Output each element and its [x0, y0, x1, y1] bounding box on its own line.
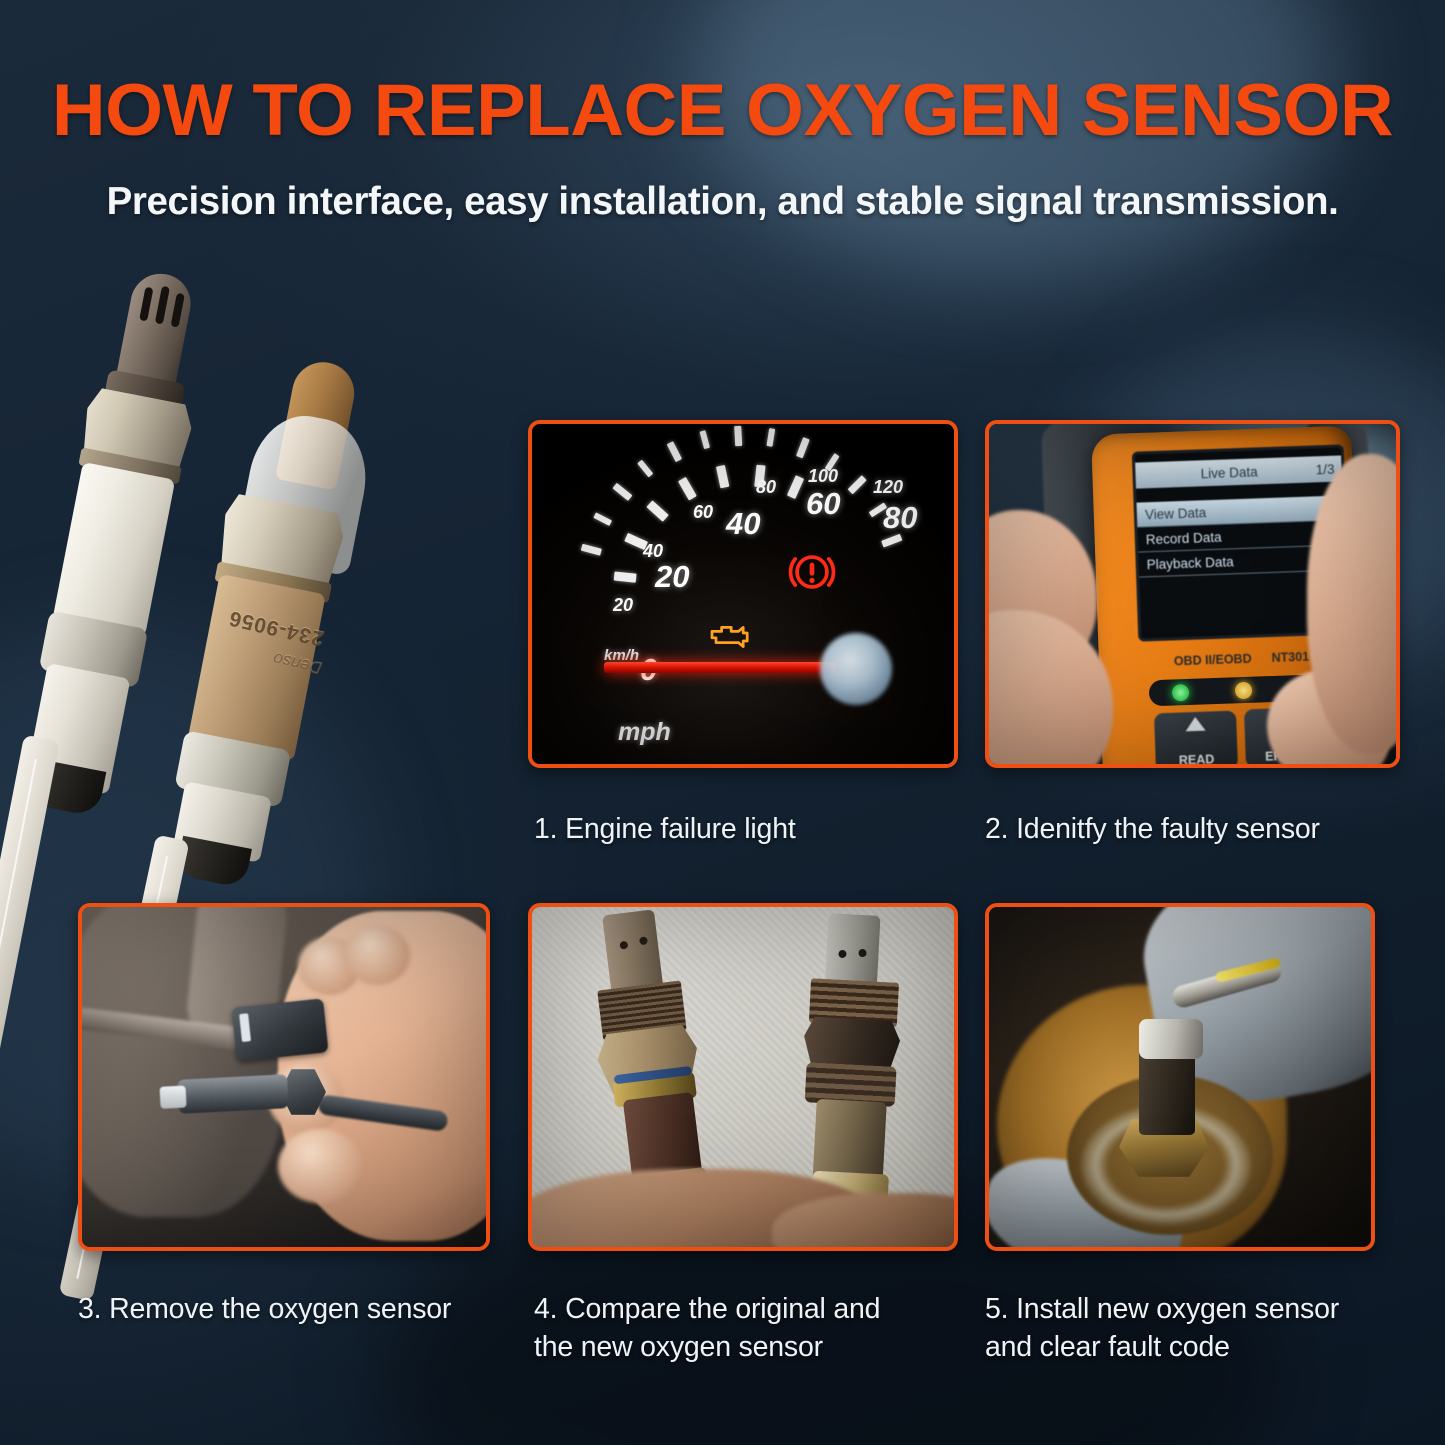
display-titlebar: Live Data 1/3	[1135, 455, 1342, 488]
read-button-label: READ	[1179, 752, 1215, 764]
brake-warning-icon	[784, 544, 840, 600]
sensor-b: 234-9056 Denso	[156, 348, 418, 871]
caption-panel-4: 4. Compare the original and the new oxyg…	[534, 1290, 924, 1367]
installed-sensor-shaft	[1139, 1049, 1195, 1135]
sensor-a-nut-band	[78, 447, 182, 484]
installed-sensor-collar	[1139, 1019, 1203, 1059]
protocol-label: OBD II/EOBD	[1174, 652, 1252, 669]
speedo-kmh-20: 20	[613, 595, 633, 616]
speedo-kmh-80: 80	[756, 477, 776, 498]
sensor-a-boot	[27, 758, 106, 817]
check-engine-icon	[708, 620, 756, 654]
knuckle	[344, 925, 410, 985]
sensor-a-shoulder	[39, 610, 149, 688]
model-label: NT301	[1271, 650, 1309, 665]
caption-panel-2: 2. Idenitfy the faulty sensor	[985, 810, 1415, 848]
sensor-a-louver-slot-2	[155, 286, 170, 325]
speedo-mph-40: 40	[726, 506, 760, 542]
sensor-b-protective-sleeve	[234, 407, 376, 576]
speedo-kmh-60: 60	[693, 502, 713, 523]
sensor-b-lower-body	[173, 781, 272, 863]
panel-engine-failure-light[interactable]: 20 40 60 80 100 120 0 20 40 60 80 km/h m…	[528, 420, 958, 768]
sensor-a	[12, 264, 258, 803]
sensor-b-nut-band	[214, 561, 332, 603]
sensor-b-ceramic-cone-tip	[275, 357, 360, 491]
warning-led-icon	[1235, 681, 1253, 699]
menu-item-label: View Data	[1145, 505, 1207, 522]
knuckle	[278, 1129, 362, 1203]
display-title: Live Data	[1142, 462, 1316, 483]
old-sensor-vent-tip	[825, 913, 881, 990]
sensor-a-body	[53, 462, 176, 637]
sensor-a-louver-slot-1	[139, 287, 153, 322]
photo-remove-sensor	[82, 907, 486, 1247]
sensor-a-lead-cable	[0, 735, 60, 1292]
caption-panel-1: 1. Engine failure light	[534, 810, 934, 848]
sensor-b-shoulder	[174, 730, 291, 808]
chevron-up-icon	[1185, 717, 1205, 732]
panel-remove-oxygen-sensor[interactable]	[78, 903, 490, 1251]
speedometer-needle	[604, 662, 836, 673]
sensor-a-lower-body	[26, 663, 131, 795]
sensor-b-brand-stamp: Denso	[232, 639, 324, 679]
menu-item-label: Playback Data	[1146, 554, 1234, 572]
caption-panel-3: 3. Remove the oxygen sensor	[78, 1290, 498, 1328]
panel-identify-faulty-sensor[interactable]: Live Data 1/3 View Data Record Data Play…	[985, 420, 1400, 768]
speedo-mph-20: 20	[655, 559, 689, 595]
sensor-b-hex-nut	[213, 492, 347, 599]
sensor-connector-plug	[231, 998, 328, 1061]
page-subtitle: Precision interface, easy installation, …	[0, 180, 1445, 224]
speedo-kmh-100: 100	[808, 466, 838, 487]
photo-instrument-cluster: 20 40 60 80 100 120 0 20 40 60 80 km/h m…	[532, 424, 954, 764]
speedometer-face: 20 40 60 80 100 120 0 20 40 60 80 km/h m…	[532, 424, 954, 764]
page-title: HOW TO REPLACE OXYGEN SENSOR	[0, 74, 1445, 147]
menu-item-label: Record Data	[1146, 529, 1222, 547]
panel-compare-sensors[interactable]	[528, 903, 958, 1251]
caption-panel-5: 5. Install new oxygen sensor and clear f…	[985, 1290, 1365, 1367]
pass-led-icon	[1172, 683, 1190, 701]
photo-compare-sensors	[532, 907, 954, 1247]
sensor-a-hex-nut	[76, 386, 195, 485]
speedo-kmh-120: 120	[873, 477, 903, 498]
poster-canvas: HOW TO REPLACE OXYGEN SENSOR Precision i…	[0, 0, 1445, 1445]
speedometer-hub-glare	[820, 633, 892, 705]
photo-obd-scanner: Live Data 1/3 View Data Record Data Play…	[989, 424, 1396, 764]
speedo-unit-mph: mph	[618, 718, 671, 747]
sensor-b-boot	[176, 836, 252, 889]
speedo-mph-80: 80	[883, 500, 917, 536]
sensor-b-part-number-stamp: 234-9056	[223, 604, 326, 650]
poster-header: HOW TO REPLACE OXYGEN SENSOR Precision i…	[0, 0, 1445, 224]
panel-install-new-sensor[interactable]	[985, 903, 1375, 1251]
removed-oxygen-sensor	[177, 1074, 289, 1114]
read-button[interactable]: READ	[1154, 711, 1238, 764]
sensor-a-crimp-ring	[104, 369, 186, 409]
photo-install-sensor	[989, 907, 1371, 1247]
speedo-mph-60: 60	[806, 486, 840, 522]
sensor-a-louver-slot-3	[171, 293, 185, 328]
sensor-a-louver-tip	[115, 269, 196, 394]
sensor-b-body	[187, 574, 325, 761]
display-page-indicator: 1/3	[1315, 461, 1334, 477]
